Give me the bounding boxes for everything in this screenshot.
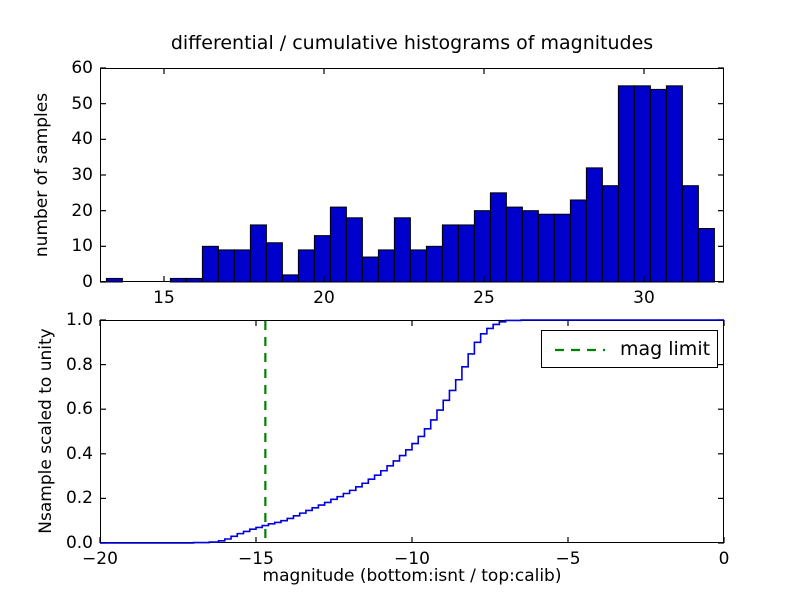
legend-label-mag-limit: mag limit (620, 338, 710, 360)
top-axes-y-label: number of samples (32, 93, 52, 257)
top-y-tick-label: 0 (82, 272, 93, 292)
top-y-tick-label: 40 (71, 129, 93, 149)
top-y-tick-label: 30 (71, 165, 93, 185)
bottom-y-tick-label: 0.2 (66, 488, 93, 508)
top-y-tick-label: 20 (71, 201, 93, 221)
figure-canvas: differential / cumulative histograms of … (0, 0, 800, 600)
top-x-tick-label: 15 (153, 288, 175, 308)
bottom-y-tick-label: 0.8 (66, 355, 93, 375)
top-y-tick-label: 50 (71, 94, 93, 114)
bottom-y-tick-label: 0.6 (66, 399, 93, 419)
top-x-tick-label: 20 (313, 288, 335, 308)
bottom-x-tick-label: 0 (719, 549, 730, 569)
page-title: differential / cumulative histograms of … (171, 32, 653, 54)
top-axes-differential-histogram (100, 68, 724, 282)
top-y-tick-label: 10 (71, 236, 93, 256)
bottom-axes-x-label: magnitude (bottom:isnt / top:calib) (263, 566, 562, 586)
bottom-axes-y-label: Nsample scaled to unity (36, 328, 56, 533)
mag-limit-dashed-line-icon (554, 342, 606, 356)
bottom-x-tick-label: −5 (555, 549, 580, 569)
top-y-tick-label: 60 (71, 58, 93, 78)
bottom-x-tick-label: −10 (394, 549, 430, 569)
bottom-y-tick-label: 0.4 (66, 444, 93, 464)
bottom-y-tick-label: 0.0 (66, 533, 93, 553)
top-x-tick-label: 30 (633, 288, 655, 308)
top-x-tick-label: 25 (473, 288, 495, 308)
bottom-y-tick-label: 1.0 (66, 310, 93, 330)
legend-box[interactable]: mag limit (541, 330, 718, 368)
bottom-x-tick-label: −15 (238, 549, 274, 569)
